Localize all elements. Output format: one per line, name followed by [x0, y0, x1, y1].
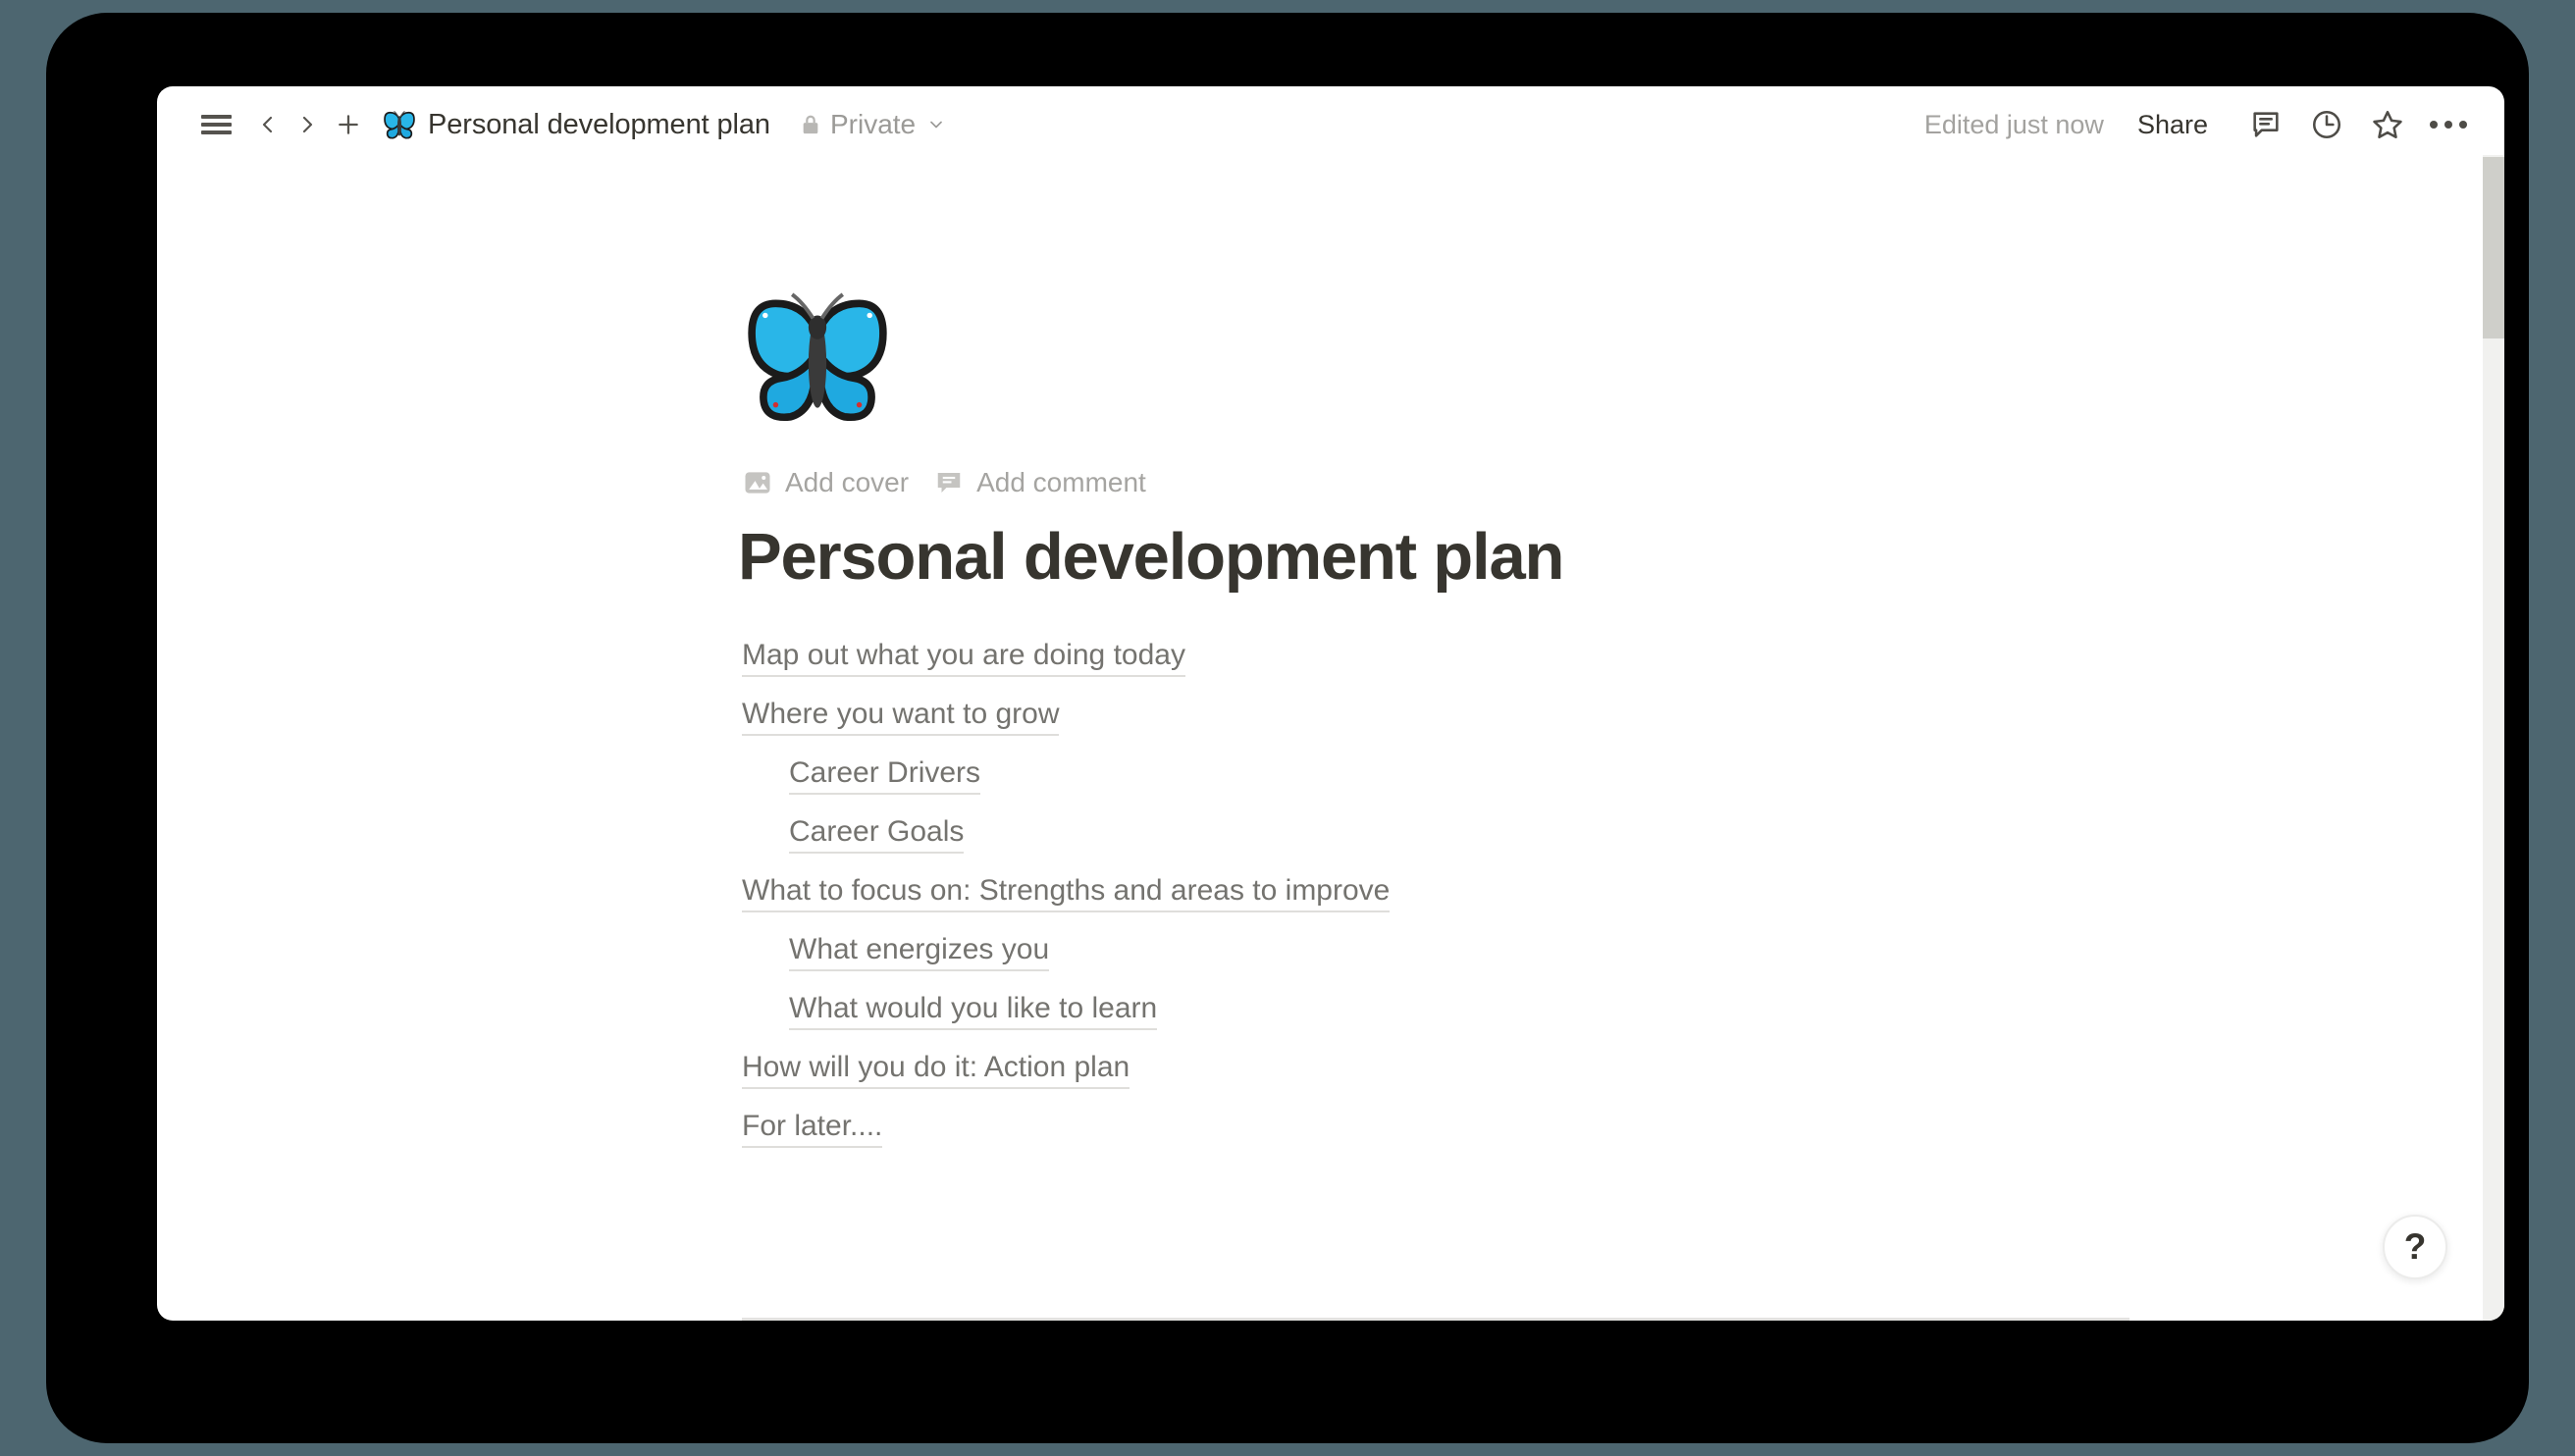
share-button[interactable]: Share: [2137, 110, 2208, 140]
star-icon[interactable]: [2361, 98, 2414, 151]
page-content: Add cover Add comment Personal developme…: [157, 163, 2483, 1321]
list-item: How will you do it: Action plan: [742, 1050, 2214, 1109]
add-cover-button[interactable]: Add cover: [743, 467, 909, 498]
add-comment-button[interactable]: Add comment: [934, 467, 1146, 498]
top-bar: Personal development plan Private Edited…: [157, 86, 2504, 163]
edited-status: Edited just now: [1924, 110, 2104, 140]
page-link[interactable]: Career Goals: [789, 814, 964, 854]
page-actions: Add cover Add comment: [743, 467, 1146, 498]
ellipsis-icon[interactable]: [2422, 98, 2475, 151]
hamburger-icon[interactable]: [196, 105, 236, 144]
breadcrumb-title[interactable]: Personal development plan: [428, 109, 770, 141]
privacy-chip[interactable]: Private: [800, 109, 946, 140]
scrollbar-track[interactable]: [2483, 155, 2504, 1321]
page-link[interactable]: Where you want to grow: [742, 697, 1059, 736]
page-title[interactable]: Personal development plan: [738, 524, 1563, 590]
top-bar-actions: Edited just now Share: [1924, 98, 2483, 151]
add-cover-label: Add cover: [785, 467, 909, 498]
butterfly-emoji: [383, 108, 416, 141]
chevron-left-icon[interactable]: [251, 105, 285, 144]
list-item: For later....: [742, 1109, 2214, 1168]
chevron-right-icon[interactable]: [290, 105, 324, 144]
app-window: Personal development plan Private Edited…: [157, 86, 2504, 1321]
privacy-label: Private: [830, 109, 916, 140]
image-icon: [743, 468, 772, 497]
list-item: What would you like to learn: [742, 991, 2214, 1050]
chevron-down-icon[interactable]: [926, 115, 946, 134]
page-link[interactable]: What to focus on: Strengths and areas to…: [742, 873, 1390, 912]
help-button[interactable]: ?: [2383, 1215, 2447, 1279]
page-link[interactable]: How will you do it: Action plan: [742, 1050, 1130, 1089]
page-link[interactable]: Career Drivers: [789, 755, 980, 795]
page-link[interactable]: For later....: [742, 1109, 882, 1148]
list-item: Where you want to grow: [742, 697, 2214, 755]
comment-icon[interactable]: [2239, 98, 2292, 151]
lock-icon: [800, 112, 821, 137]
clock-icon[interactable]: [2300, 98, 2353, 151]
scrollbar-thumb[interactable]: [2483, 157, 2504, 338]
list-item: What to focus on: Strengths and areas to…: [742, 873, 2214, 932]
page-link[interactable]: Map out what you are doing today: [742, 638, 1185, 677]
add-comment-label: Add comment: [976, 467, 1146, 498]
list-item: Career Drivers: [742, 755, 2214, 814]
page-link-list: Map out what you are doing today Where y…: [742, 638, 2214, 1168]
butterfly-emoji[interactable]: [743, 283, 892, 432]
page-link[interactable]: What would you like to learn: [789, 991, 1157, 1030]
list-item: Map out what you are doing today: [742, 638, 2214, 697]
page-link[interactable]: What energizes you: [789, 932, 1049, 971]
list-item: Career Goals: [742, 814, 2214, 873]
content-divider: [742, 1318, 2129, 1321]
plus-icon[interactable]: [330, 105, 367, 144]
device-frame: Personal development plan Private Edited…: [46, 13, 2529, 1443]
list-item: What energizes you: [742, 932, 2214, 991]
comment-icon: [934, 468, 964, 497]
